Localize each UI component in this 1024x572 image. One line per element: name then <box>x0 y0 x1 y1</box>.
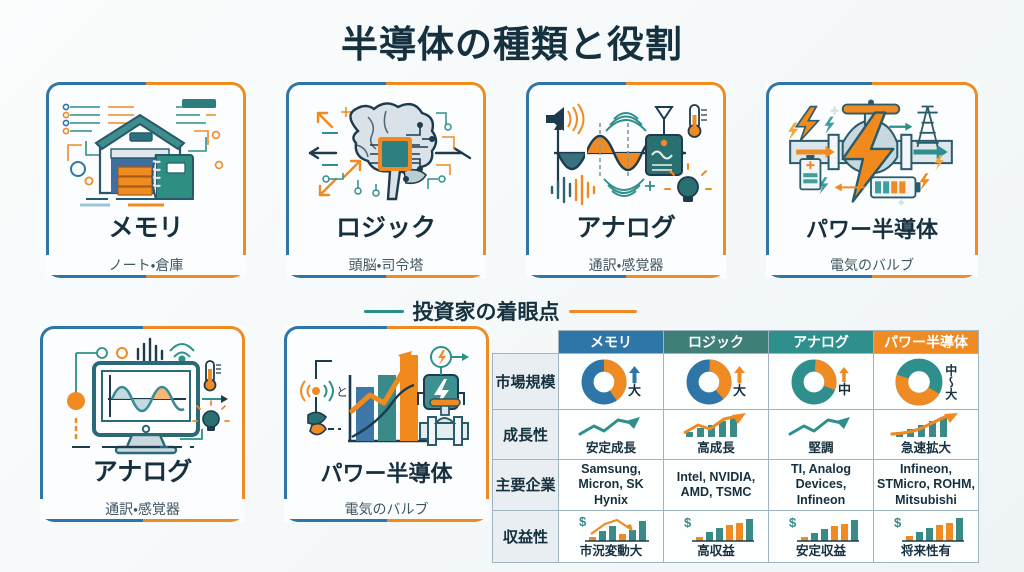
cell-profit-analog: $ 安定収益 <box>769 510 874 562</box>
growth-bars-valve-icon: と <box>294 334 479 460</box>
row-label-growth: 成長性 <box>493 410 559 460</box>
card-power-2[interactable]: と <box>284 326 489 522</box>
market-size-value: 中 <box>838 382 851 397</box>
cell-market-size-memory: 大 <box>559 354 664 410</box>
donut-chart <box>581 359 627 405</box>
card-title: アナログ <box>40 452 245 488</box>
profit-bars-icon: $ <box>676 514 756 542</box>
card-power[interactable]: パワー半導体 電気のバルブ <box>766 82 978 278</box>
row-label-key-companies: 主要企業 <box>493 460 559 511</box>
donut-chart <box>791 359 837 405</box>
growth-value: 高成長 <box>697 437 735 456</box>
card-subtitle: 電気のバルブ <box>284 499 489 519</box>
svg-text:$: $ <box>579 514 587 529</box>
cell-market-size-power: 中〜大 <box>874 354 979 410</box>
row-label-profitability: 収益性 <box>493 510 559 562</box>
profit-value: 高収益 <box>697 540 735 559</box>
rule-left <box>364 310 404 313</box>
card-subtitle: ノート・倉庫 <box>46 255 246 275</box>
card-logic[interactable]: ロジック 頭脳・司令塔 <box>286 82 486 278</box>
card-title: アナログ <box>526 208 726 244</box>
card-subtitle: 通訳・感覚器 <box>526 255 726 275</box>
oscilloscope-monitor-icon <box>50 334 235 460</box>
table-col-header-analog: アナログ <box>769 331 874 354</box>
cell-growth-logic: 高成長 <box>664 410 769 460</box>
row-label-market-size: 市場規模 <box>493 354 559 410</box>
section-heading-text: 投資家の着眼点 <box>413 296 560 326</box>
rule-right <box>569 310 637 313</box>
cell-growth-power: 急速拡大 <box>874 410 979 460</box>
companies-value: Intel, NVIDIA, AMD, TSMC <box>664 468 768 503</box>
profit-value: 市況変動大 <box>580 540 643 559</box>
table-header-row: メモリ ロジック アナログ パワー半導体 <box>493 331 979 354</box>
profit-value: 将来性有 <box>901 540 951 559</box>
up-arrow-icon <box>628 366 641 383</box>
card-title: メモリ <box>46 208 246 244</box>
up-arrow-icon <box>733 366 746 383</box>
card-analog-2[interactable]: アナログ 通訳・感覚器 <box>40 326 245 522</box>
table-row-market-size: 市場規模 大 <box>493 354 979 410</box>
cell-companies-logic: Intel, NVIDIA, AMD, TSMC <box>664 460 769 511</box>
infographic-canvas: 半導体の種類と役割 <box>0 0 1024 572</box>
card-title: ロジック <box>286 208 486 244</box>
cell-market-size-logic: 大 <box>664 354 769 410</box>
trend-line-icon <box>574 413 648 439</box>
cell-market-size-analog: 中 <box>769 354 874 410</box>
cell-companies-memory: Samsung, Micron, SK Hynix <box>559 460 664 511</box>
table-corner-cell <box>493 331 559 354</box>
section-heading: 投資家の着眼点 <box>270 296 730 326</box>
table-row-growth: 成長性 安定成長 <box>493 410 979 460</box>
market-size-value: 大 <box>628 383 641 398</box>
growth-value: 安定成長 <box>586 437 636 456</box>
warehouse-notebook-icon <box>56 90 236 216</box>
svg-text:と: と <box>336 385 348 399</box>
valve-bolt-icon <box>776 90 968 216</box>
cell-companies-analog: TI, Analog Devices, Infineon <box>769 460 874 511</box>
table-row-key-companies: 主要企業 Samsung, Micron, SK Hynix Intel, NV… <box>493 460 979 511</box>
profit-value: 安定収益 <box>796 540 846 559</box>
cell-profit-power: $ 将来性有 <box>874 510 979 562</box>
table-col-header-memory: メモリ <box>559 331 664 354</box>
table-row-profitability: 収益性 $ <box>493 510 979 562</box>
up-arrow-icon <box>838 367 850 382</box>
sine-wave-sensor-icon <box>536 90 716 216</box>
cell-growth-analog: 堅調 <box>769 410 874 460</box>
profit-bars-icon: $ <box>781 514 861 542</box>
profit-bars-icon: $ <box>569 514 653 542</box>
trend-bars-icon <box>884 413 968 439</box>
page-title: 半導体の種類と役割 <box>0 14 1024 68</box>
investor-comparison-table: メモリ ロジック アナログ パワー半導体 市場規模 <box>492 330 979 563</box>
cell-growth-memory: 安定成長 <box>559 410 664 460</box>
growth-value: 急速拡大 <box>901 437 951 456</box>
card-analog[interactable]: アナログ 通訳・感覚器 <box>526 82 726 278</box>
card-title: パワー半導体 <box>284 456 489 488</box>
svg-text:$: $ <box>684 515 692 530</box>
table-col-header-power: パワー半導体 <box>874 331 979 354</box>
card-subtitle: 電気のバルブ <box>766 255 978 275</box>
svg-text:$: $ <box>789 515 797 530</box>
donut-chart <box>686 359 732 405</box>
card-title: パワー半導体 <box>766 212 978 244</box>
card-subtitle: 頭脳・司令塔 <box>286 255 486 275</box>
brain-chip-icon <box>296 90 476 216</box>
profit-bars-icon: $ <box>886 514 966 542</box>
trend-line-icon <box>784 413 858 439</box>
market-size-value: 大 <box>733 383 746 398</box>
cell-profit-memory: $ <box>559 510 664 562</box>
cell-profit-logic: $ 高収益 <box>664 510 769 562</box>
companies-value: TI, Analog Devices, Infineon <box>769 460 873 510</box>
trend-bars-icon <box>676 413 756 439</box>
svg-text:$: $ <box>894 515 902 530</box>
cell-companies-power: Infineon, STMicro, ROHM, Mitsubishi <box>874 460 979 511</box>
growth-value: 堅調 <box>808 437 833 456</box>
card-memory[interactable]: メモリ ノート・倉庫 <box>46 82 246 278</box>
market-size-value: 中〜大 <box>944 364 957 400</box>
companies-value: Infineon, STMicro, ROHM, Mitsubishi <box>874 460 978 510</box>
donut-chart <box>895 358 943 406</box>
companies-value: Samsung, Micron, SK Hynix <box>559 460 663 510</box>
table-col-header-logic: ロジック <box>664 331 769 354</box>
card-subtitle: 通訳・感覚器 <box>40 499 245 519</box>
